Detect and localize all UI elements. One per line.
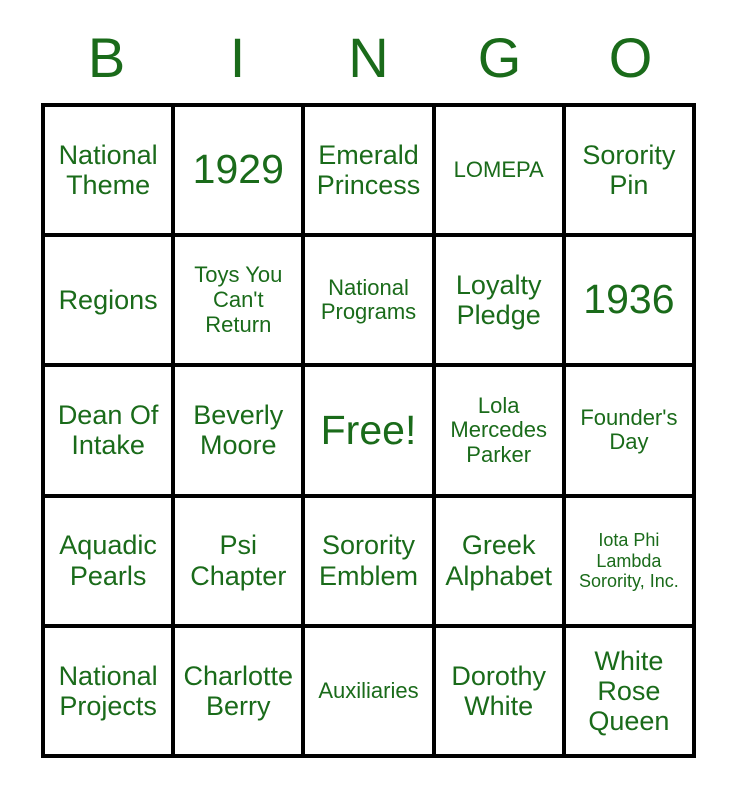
bingo-cell[interactable]: 1936	[566, 237, 696, 367]
bingo-cell[interactable]: Loyalty Pledge	[436, 237, 566, 367]
header-letter-i: I	[172, 30, 303, 86]
bingo-cell-label: 1936	[572, 277, 686, 323]
bingo-cell[interactable]: White Rose Queen	[566, 628, 696, 758]
bingo-cell[interactable]: Sorority Pin	[566, 107, 696, 237]
bingo-cell-label: Toys You Can't Return	[181, 263, 295, 337]
bingo-cell-label: LOMEPA	[442, 158, 556, 183]
bingo-cell-label: Sorority Pin	[572, 140, 686, 200]
bingo-cell-label: Sorority Emblem	[311, 530, 425, 590]
bingo-cell[interactable]: 1929	[175, 107, 305, 237]
bingo-cell-label: Regions	[51, 285, 165, 315]
bingo-cell[interactable]: Greek Alphabet	[436, 498, 566, 628]
bingo-cell-label: Dean Of Intake	[51, 400, 165, 460]
bingo-cell[interactable]: Founder's Day	[566, 367, 696, 497]
bingo-cell[interactable]: Sorority Emblem	[305, 498, 435, 628]
bingo-cell-label: Loyalty Pledge	[442, 270, 556, 330]
bingo-cell[interactable]: Charlotte Berry	[175, 628, 305, 758]
bingo-cell-label: Lola Mercedes Parker	[442, 394, 556, 468]
bingo-cell-label: Beverly Moore	[181, 400, 295, 460]
bingo-cell[interactable]: National Projects	[45, 628, 175, 758]
bingo-cell-label: White Rose Queen	[572, 646, 686, 737]
bingo-cell[interactable]: Auxiliaries	[305, 628, 435, 758]
bingo-cell[interactable]: Emerald Princess	[305, 107, 435, 237]
bingo-cell[interactable]: Aquadic Pearls	[45, 498, 175, 628]
bingo-cell-label: 1929	[181, 147, 295, 193]
bingo-cell-label: National Projects	[51, 661, 165, 721]
bingo-cell-label: National Programs	[311, 276, 425, 325]
bingo-cell-free[interactable]: Free!	[305, 367, 435, 497]
bingo-cell[interactable]: Psi Chapter	[175, 498, 305, 628]
bingo-cell[interactable]: Beverly Moore	[175, 367, 305, 497]
bingo-cell-label: National Theme	[51, 140, 165, 200]
bingo-cell[interactable]: Iota Phi Lambda Sorority, Inc.	[566, 498, 696, 628]
bingo-cell-label: Aquadic Pearls	[51, 530, 165, 590]
bingo-cell-label: Dorothy White	[442, 661, 556, 721]
bingo-cell-label: Founder's Day	[572, 406, 686, 455]
bingo-cell-label: Auxiliaries	[311, 679, 425, 704]
bingo-cell[interactable]: Dean Of Intake	[45, 367, 175, 497]
bingo-cell[interactable]: Regions	[45, 237, 175, 367]
header-letter-o: O	[565, 30, 696, 86]
bingo-cell-label: Emerald Princess	[311, 140, 425, 200]
bingo-cell-label: Free!	[311, 408, 425, 454]
bingo-grid: National Theme1929Emerald PrincessLOMEPA…	[41, 103, 696, 758]
header-letter-b: B	[41, 30, 172, 86]
bingo-cell-label: Greek Alphabet	[442, 530, 556, 590]
bingo-cell[interactable]: Lola Mercedes Parker	[436, 367, 566, 497]
bingo-cell[interactable]: LOMEPA	[436, 107, 566, 237]
header-letter-n: N	[303, 30, 434, 86]
bingo-cell-label: Charlotte Berry	[181, 661, 295, 721]
bingo-cell[interactable]: Toys You Can't Return	[175, 237, 305, 367]
bingo-card: B I N G O National Theme1929Emerald Prin…	[0, 0, 737, 800]
bingo-cell-label: Psi Chapter	[181, 530, 295, 590]
bingo-header: B I N G O	[41, 18, 696, 98]
header-letter-g: G	[434, 30, 565, 86]
bingo-cell[interactable]: National Theme	[45, 107, 175, 237]
bingo-cell[interactable]: National Programs	[305, 237, 435, 367]
bingo-cell-label: Iota Phi Lambda Sorority, Inc.	[572, 530, 686, 590]
bingo-cell[interactable]: Dorothy White	[436, 628, 566, 758]
